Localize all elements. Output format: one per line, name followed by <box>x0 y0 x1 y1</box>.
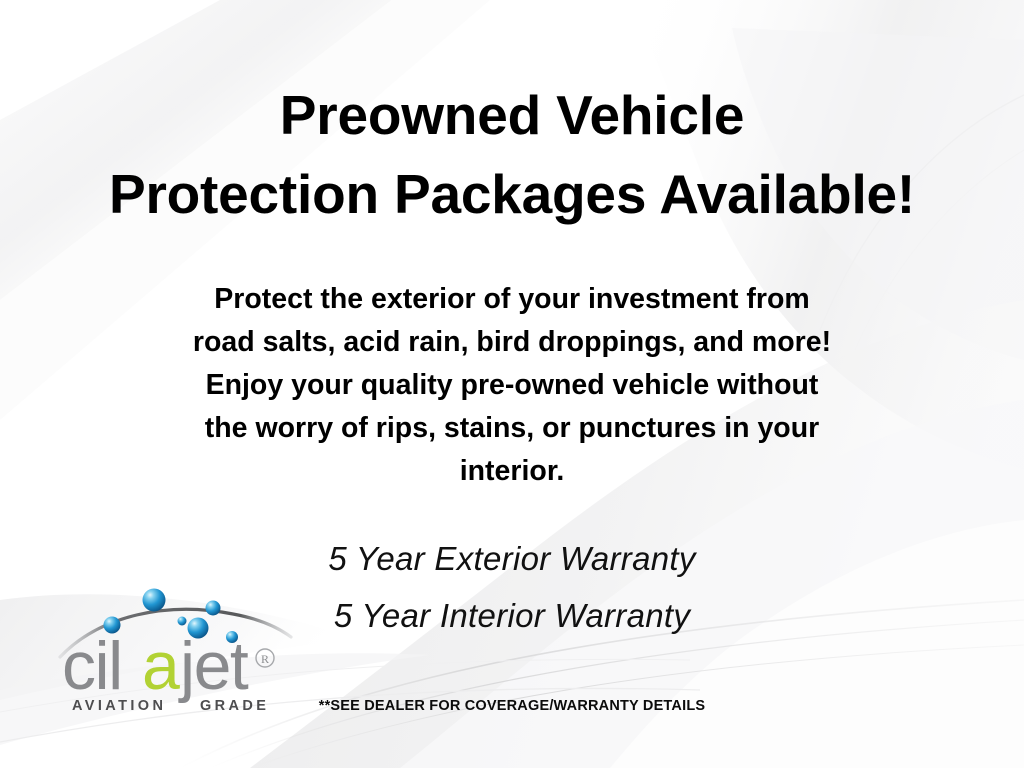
body-copy: Protect the exterior of your investment … <box>0 278 1024 493</box>
logo-tagline-grade: GRADE <box>200 698 269 714</box>
slide-canvas: Preowned Vehicle Protection Packages Ava… <box>0 0 1024 768</box>
logo-word-a: a <box>142 628 180 704</box>
headline-line-1: Preowned Vehicle <box>0 76 1024 155</box>
bubble-tiny-1 <box>178 617 187 626</box>
logo-wordmark: cil a jet R <box>62 628 274 704</box>
bubble-large-1 <box>143 589 166 612</box>
body-line-5: interior. <box>0 450 1024 493</box>
body-line-2: road salts, acid rain, bird droppings, a… <box>0 321 1024 364</box>
cilajet-logo: cil a jet R AVIATION GRADE <box>58 585 293 715</box>
warranty-exterior: 5 Year Exterior Warranty <box>0 530 1024 587</box>
svg-text:R: R <box>261 652 269 666</box>
page-title: Preowned Vehicle Protection Packages Ava… <box>0 76 1024 234</box>
logo-tagline-aviation: AVIATION <box>72 698 166 714</box>
logo-word-cil: cil <box>62 628 122 704</box>
registered-trademark-icon: R <box>256 649 274 667</box>
body-line-4: the worry of rips, stains, or punctures … <box>0 407 1024 450</box>
logo-word-jet: jet <box>178 628 249 704</box>
bubble-small-1 <box>206 601 221 616</box>
headline-line-2: Protection Packages Available! <box>0 155 1024 234</box>
body-line-3: Enjoy your quality pre-owned vehicle wit… <box>0 364 1024 407</box>
body-line-1: Protect the exterior of your investment … <box>0 278 1024 321</box>
